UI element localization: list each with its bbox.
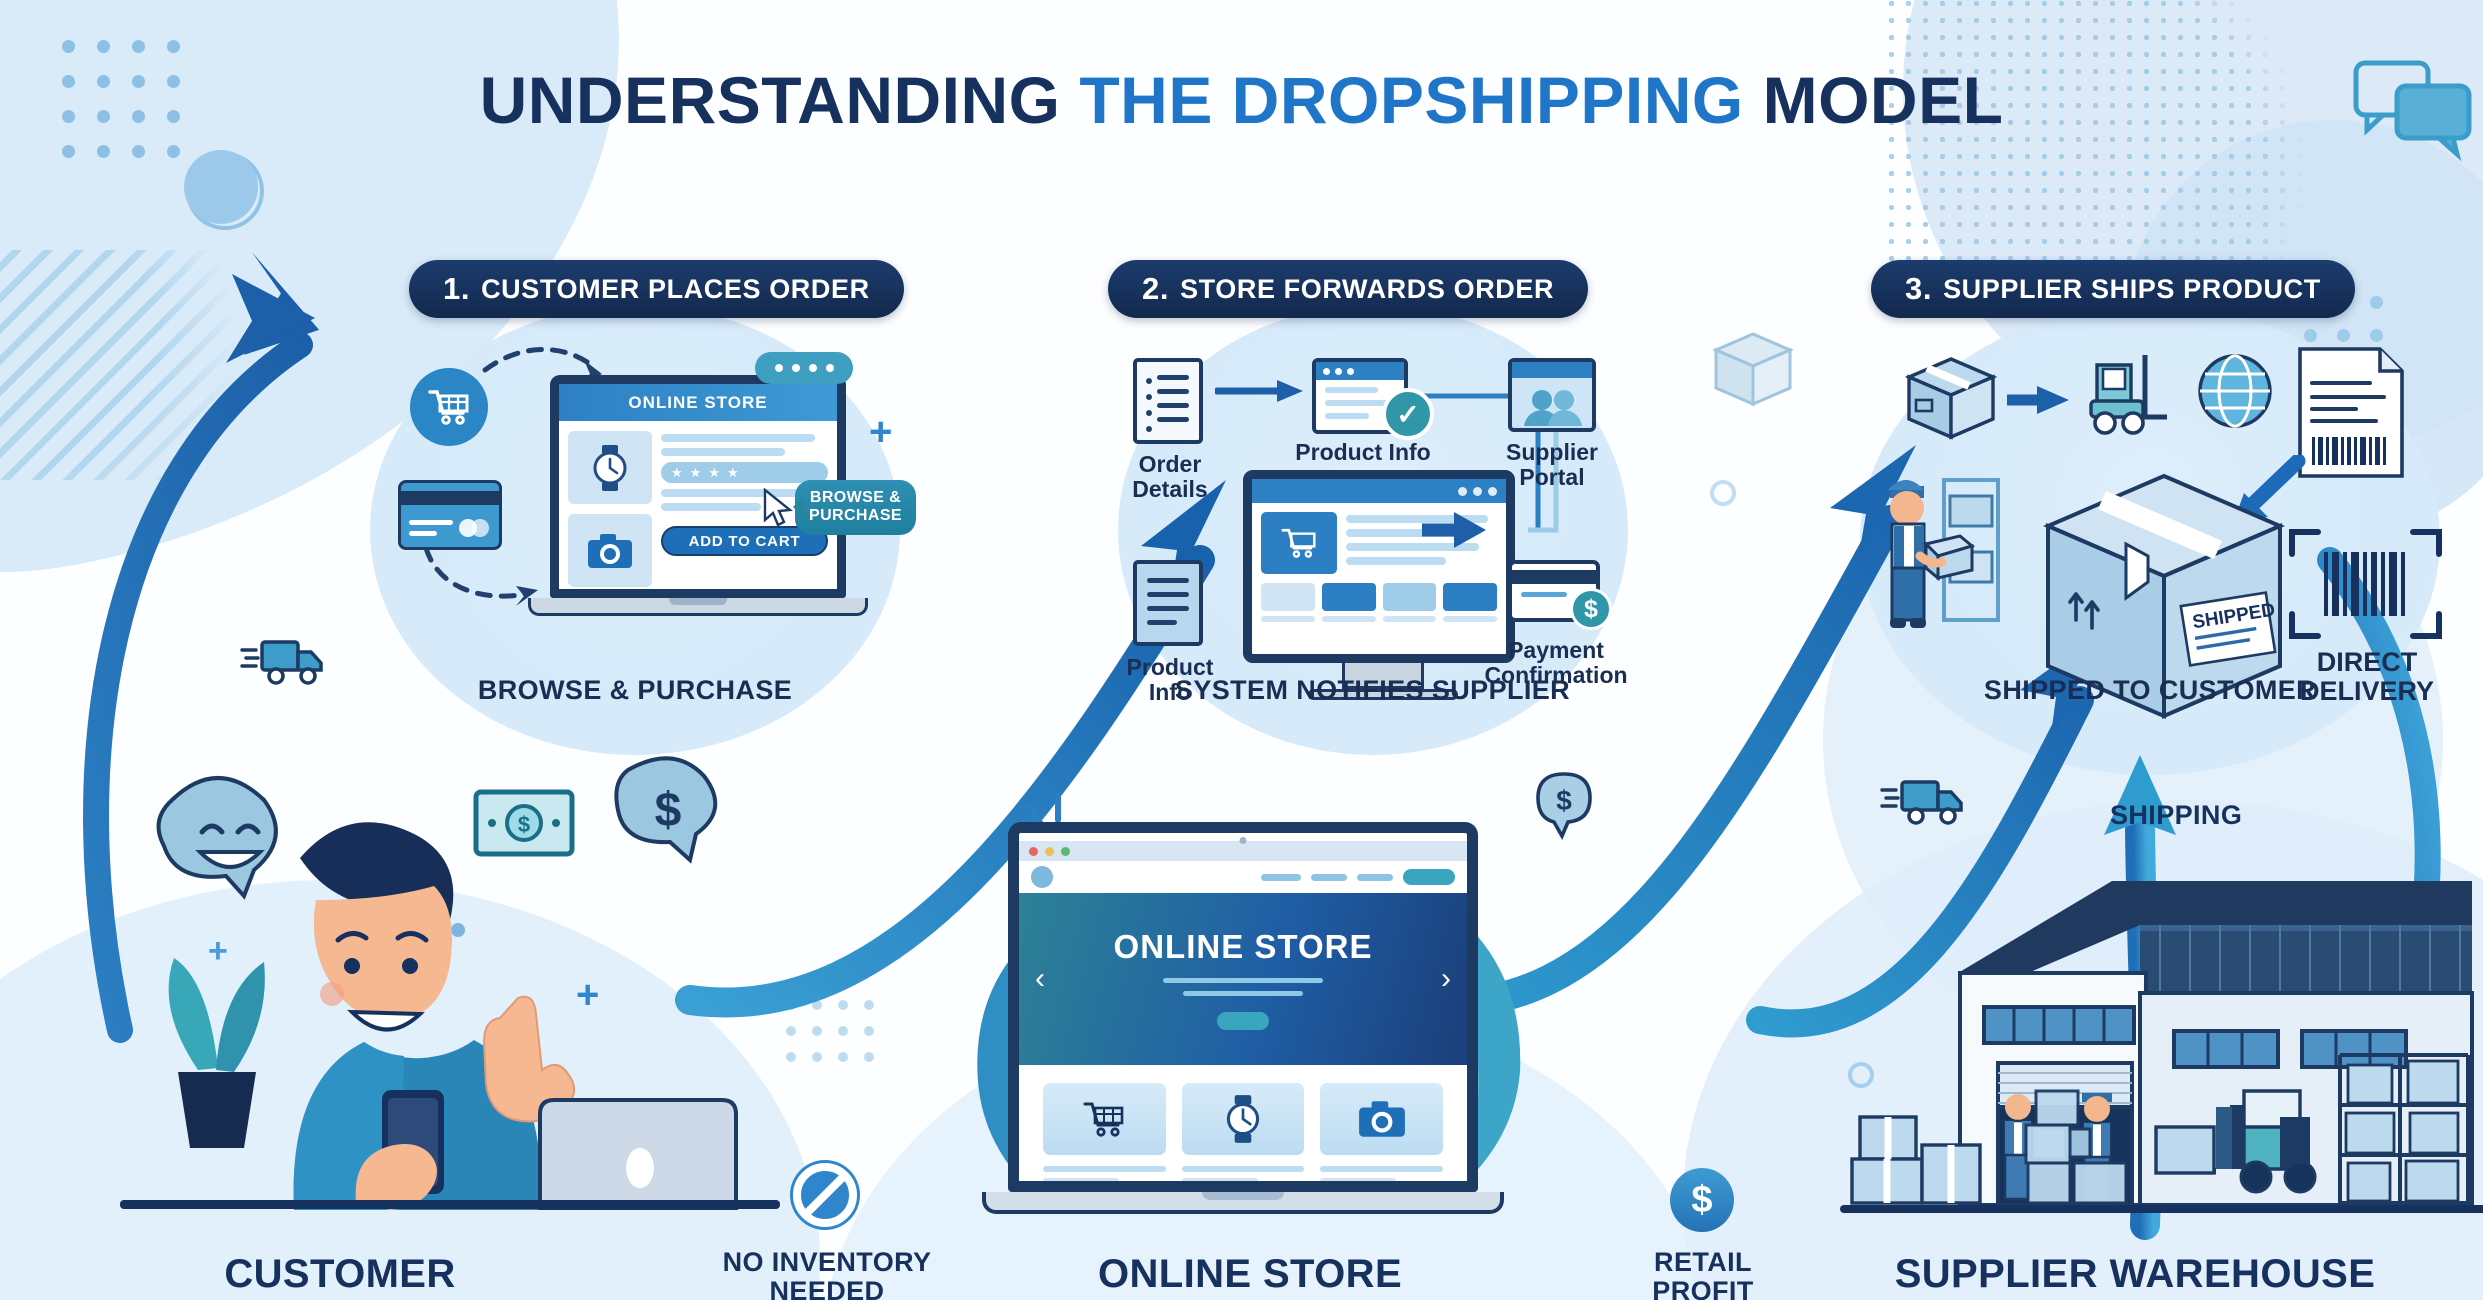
plus-decoration-1: +	[869, 410, 892, 455]
shipping-annotation: SHIPPING	[2110, 800, 2242, 831]
no-entry-icon	[790, 1160, 860, 1230]
retail-profit-line-1: RETAIL	[1614, 1248, 1792, 1277]
footer-label-online-store: ONLINE STORE	[1040, 1252, 1460, 1297]
direct-delivery-line-1: DIRECT	[2268, 648, 2466, 677]
order-details-line-2: Details	[1118, 477, 1222, 502]
hero-rule-1	[1163, 978, 1323, 983]
browse-purchase-tooltip: BROWSE & PURCHASE	[795, 480, 916, 535]
tooltip-line-1: BROWSE &	[809, 489, 902, 507]
footer-label-supplier-warehouse: SUPPLIER WAREHOUSE	[1825, 1252, 2445, 1297]
webcam-dot	[1240, 837, 1247, 844]
no-inventory-line-2: NEEDED	[712, 1277, 942, 1300]
floating-package-icon	[1712, 330, 1794, 410]
step-1-caption: BROWSE & PURCHASE	[380, 675, 890, 706]
product-card-cart[interactable]	[1043, 1083, 1166, 1184]
hero-banner: ONLINE STORE ‹ ›	[1019, 893, 1467, 1065]
step-3-label: SUPPLIER SHIPS PRODUCT	[1943, 274, 2321, 305]
carousel-prev-button[interactable]: ‹	[1035, 962, 1045, 996]
product-card-row	[1019, 1065, 1467, 1192]
credit-card-icon	[398, 480, 502, 550]
forklift-icon	[2075, 345, 2185, 440]
star-rating: ★★★★	[661, 462, 828, 483]
package-box-icon	[1905, 355, 1997, 446]
invoice-barcode-document-icon	[2296, 345, 2406, 485]
online-store-laptop-base	[982, 1192, 1504, 1214]
step-2-badge[interactable]: 2. STORE FORWARDS ORDER	[1108, 260, 1588, 318]
supplier-portal-line-2: Portal	[1490, 465, 1614, 490]
retail-profit-line-2: PROFIT	[1614, 1277, 1792, 1300]
footer-label-retail-profit: RETAIL PROFIT	[1614, 1248, 1792, 1300]
customer-illustration: $ $ + +	[120, 740, 780, 1215]
nav-link-2[interactable]	[1311, 874, 1347, 881]
step-3-badge[interactable]: 3. SUPPLIER SHIPS PRODUCT	[1871, 260, 2355, 318]
cursor-pointer-icon	[762, 488, 796, 528]
hero-rule-2	[1183, 991, 1303, 996]
online-store-laptop: ONLINE STORE ‹ ›	[1008, 822, 1478, 1214]
hero-title: ONLINE STORE	[1114, 928, 1373, 966]
nav-link-3[interactable]	[1357, 874, 1393, 881]
svg-text:$: $	[1556, 785, 1572, 816]
shopping-cart-bubble-icon	[410, 368, 488, 446]
dollar-circle-icon: $	[1670, 1168, 1734, 1232]
order-details-document-icon	[1133, 358, 1203, 444]
arrow-right-portal-icon	[1420, 508, 1492, 552]
watch-product-thumb[interactable]	[568, 431, 652, 504]
browser-nav-bar	[1019, 861, 1467, 893]
dollar-bubble-icon: $	[1532, 770, 1596, 840]
nav-cta-button[interactable]	[1403, 869, 1455, 885]
supplier-portal-label: Supplier Portal	[1490, 440, 1614, 490]
camera-icon	[1357, 1098, 1407, 1140]
warehouse-worker-icon	[1876, 460, 2006, 650]
payment-line-1: Payment	[1472, 638, 1640, 663]
camera-product-thumb[interactable]	[568, 514, 652, 587]
step-1-badge[interactable]: 1. CUSTOMER PLACES ORDER	[409, 260, 904, 318]
arrow-right-step3-icon	[2005, 385, 2075, 415]
svg-text:$: $	[655, 784, 682, 837]
svg-text:+: +	[208, 932, 228, 970]
step-1-laptop-base	[528, 598, 868, 616]
menu-dots-decoration	[755, 352, 853, 384]
supplier-warehouse-illustration	[1840, 855, 2483, 1240]
hero-cta-button[interactable]	[1217, 1012, 1269, 1030]
product-card-camera[interactable]	[1320, 1083, 1443, 1184]
nav-link-1[interactable]	[1261, 874, 1301, 881]
product-info-top-label: Product Info	[1288, 440, 1438, 465]
svg-text:$: $	[518, 812, 530, 837]
step-3-caption: SHIPPED TO CUSTOMER	[1850, 675, 2450, 706]
product-info-document-icon	[1133, 560, 1203, 646]
arrow-right-step2-icon	[1215, 378, 1307, 404]
product-card-watch[interactable]	[1182, 1083, 1305, 1184]
step-1-number: 1.	[443, 271, 470, 307]
no-inventory-line-1: NO INVENTORY	[712, 1248, 942, 1277]
step-3-number: 3.	[1905, 271, 1932, 307]
site-logo-dot	[1031, 866, 1053, 888]
online-store-screen: ONLINE STORE ‹ ›	[1008, 822, 1478, 1192]
carousel-next-button[interactable]: ›	[1441, 962, 1451, 996]
globe-icon	[2196, 352, 2274, 430]
tooltip-line-2: PURCHASE	[809, 507, 902, 525]
cart-icon	[1081, 1099, 1127, 1139]
order-details-label: Order Details	[1118, 452, 1222, 502]
order-details-line-1: Order	[1118, 452, 1222, 477]
delivery-truck-icon-left	[240, 630, 330, 692]
check-circle-icon: ✓	[1382, 388, 1434, 440]
step-2-monitor-screen	[1243, 470, 1515, 663]
supplier-portal-line-1: Supplier	[1490, 440, 1614, 465]
cart-thumb-step2	[1261, 512, 1337, 574]
footer-label-customer: CUSTOMER	[130, 1252, 550, 1297]
infographic-canvas: UNDERSTANDING THE DROPSHIPPING MODEL 1. …	[0, 0, 2483, 1300]
svg-text:+: +	[576, 973, 599, 1017]
supplier-portal-folder-icon	[1508, 358, 1596, 432]
step-1-label: CUSTOMER PLACES ORDER	[481, 274, 870, 305]
barcode-scan-icon	[2288, 528, 2443, 645]
watch-icon	[1222, 1093, 1264, 1145]
delivery-truck-icon-right	[1880, 770, 1972, 834]
browser-traffic-lights	[1019, 841, 1467, 861]
step-2-number: 2.	[1142, 271, 1169, 307]
footer-label-no-inventory: NO INVENTORY NEEDED	[712, 1248, 942, 1300]
dollar-badge-icon: $	[1570, 588, 1612, 630]
step-2-caption: SYSTEM NOTIFIES SUPPLIER	[1110, 675, 1635, 706]
step-1-store-header: ONLINE STORE	[559, 384, 837, 421]
step-2-label: STORE FORWARDS ORDER	[1180, 274, 1554, 305]
